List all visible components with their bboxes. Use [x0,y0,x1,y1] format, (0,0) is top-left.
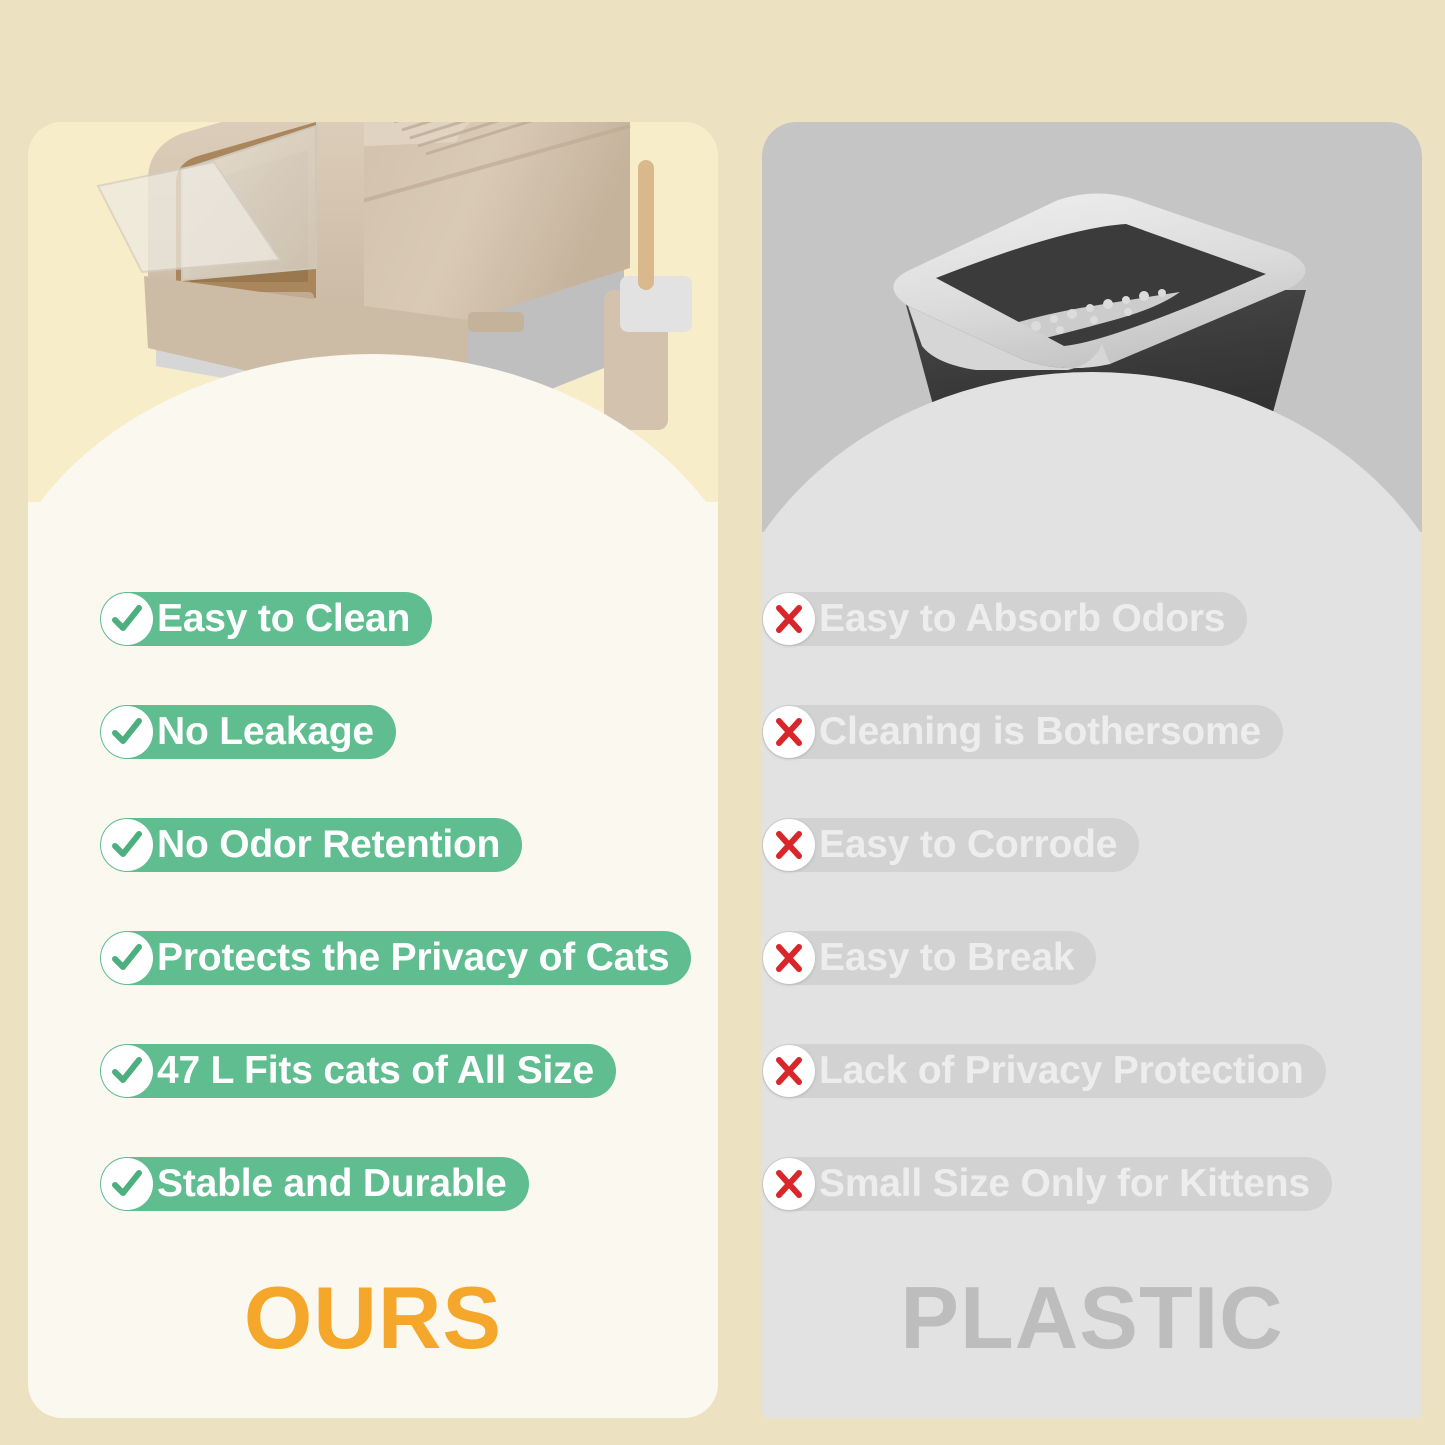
ours-feature-pill[interactable]: No Leakage [100,705,396,759]
plastic-drawback-pill[interactable]: Easy to Break [762,931,1096,985]
cross-icon [763,819,815,871]
comparison-infographic: Easy to Clean No Leakage No Odor Retenti… [0,0,1445,1445]
plastic-feature-list: Easy to Absorb Odors Cleaning is Bothers… [762,562,1422,1240]
plastic-hero [762,122,1422,452]
feature-row: 47 L Fits cats of All Size [28,1014,718,1127]
cross-icon [763,932,815,984]
check-icon [101,1158,153,1210]
ours-feature-label: No Odor Retention [153,825,500,864]
ours-feature-pill[interactable]: Protects the Privacy of Cats [100,931,691,985]
plastic-drawback-label: Easy to Break [815,938,1074,977]
plastic-footer-label: PLASTIC [762,1274,1422,1362]
plastic-drawback-pill[interactable]: Lack of Privacy Protection [762,1044,1326,1098]
drawback-row: Easy to Break [762,901,1422,1014]
ours-feature-label: Easy to Clean [153,599,410,638]
ours-panel: Easy to Clean No Leakage No Odor Retenti… [28,122,718,1418]
plastic-drawback-label: Cleaning is Bothersome [815,712,1261,751]
ours-feature-list: Easy to Clean No Leakage No Odor Retenti… [28,562,718,1240]
ours-feature-pill[interactable]: Stable and Durable [100,1157,529,1211]
feature-row: No Odor Retention [28,788,718,901]
feature-row: Protects the Privacy of Cats [28,901,718,1014]
ours-footer-label: OURS [28,1274,718,1362]
ours-feature-label: No Leakage [153,712,374,751]
ours-feature-label: 47 L Fits cats of All Size [153,1051,594,1090]
plastic-drawback-pill[interactable]: Small Size Only for Kittens [762,1157,1332,1211]
feature-row: Stable and Durable [28,1127,718,1240]
drawback-row: Cleaning is Bothersome [762,675,1422,788]
drawback-row: Lack of Privacy Protection [762,1014,1422,1127]
plastic-drawback-label: Lack of Privacy Protection [815,1051,1304,1090]
plastic-drawback-pill[interactable]: Easy to Absorb Odors [762,592,1247,646]
drawback-row: Easy to Corrode [762,788,1422,901]
cross-icon [763,1158,815,1210]
plastic-drawback-pill[interactable]: Easy to Corrode [762,818,1139,872]
feature-row: Easy to Clean [28,562,718,675]
check-icon [101,819,153,871]
cross-icon [763,1045,815,1097]
cross-icon [763,593,815,645]
feature-row: No Leakage [28,675,718,788]
plastic-drawback-label: Easy to Absorb Odors [815,599,1225,638]
ours-feature-pill[interactable]: No Odor Retention [100,818,522,872]
plastic-drawback-label: Easy to Corrode [815,825,1117,864]
cross-icon [763,706,815,758]
drawback-row: Easy to Absorb Odors [762,562,1422,675]
check-icon [101,1045,153,1097]
check-icon [101,932,153,984]
ours-feature-pill[interactable]: 47 L Fits cats of All Size [100,1044,616,1098]
check-icon [101,706,153,758]
ours-hero [28,122,718,452]
plastic-panel: Easy to Absorb Odors Cleaning is Bothers… [762,122,1422,1418]
ours-feature-label: Protects the Privacy of Cats [153,938,669,977]
plastic-drawback-pill[interactable]: Cleaning is Bothersome [762,705,1283,759]
plastic-drawback-label: Small Size Only for Kittens [815,1164,1310,1203]
drawback-row: Small Size Only for Kittens [762,1127,1422,1240]
check-icon [101,593,153,645]
ours-feature-label: Stable and Durable [153,1164,507,1203]
ours-feature-pill[interactable]: Easy to Clean [100,592,432,646]
